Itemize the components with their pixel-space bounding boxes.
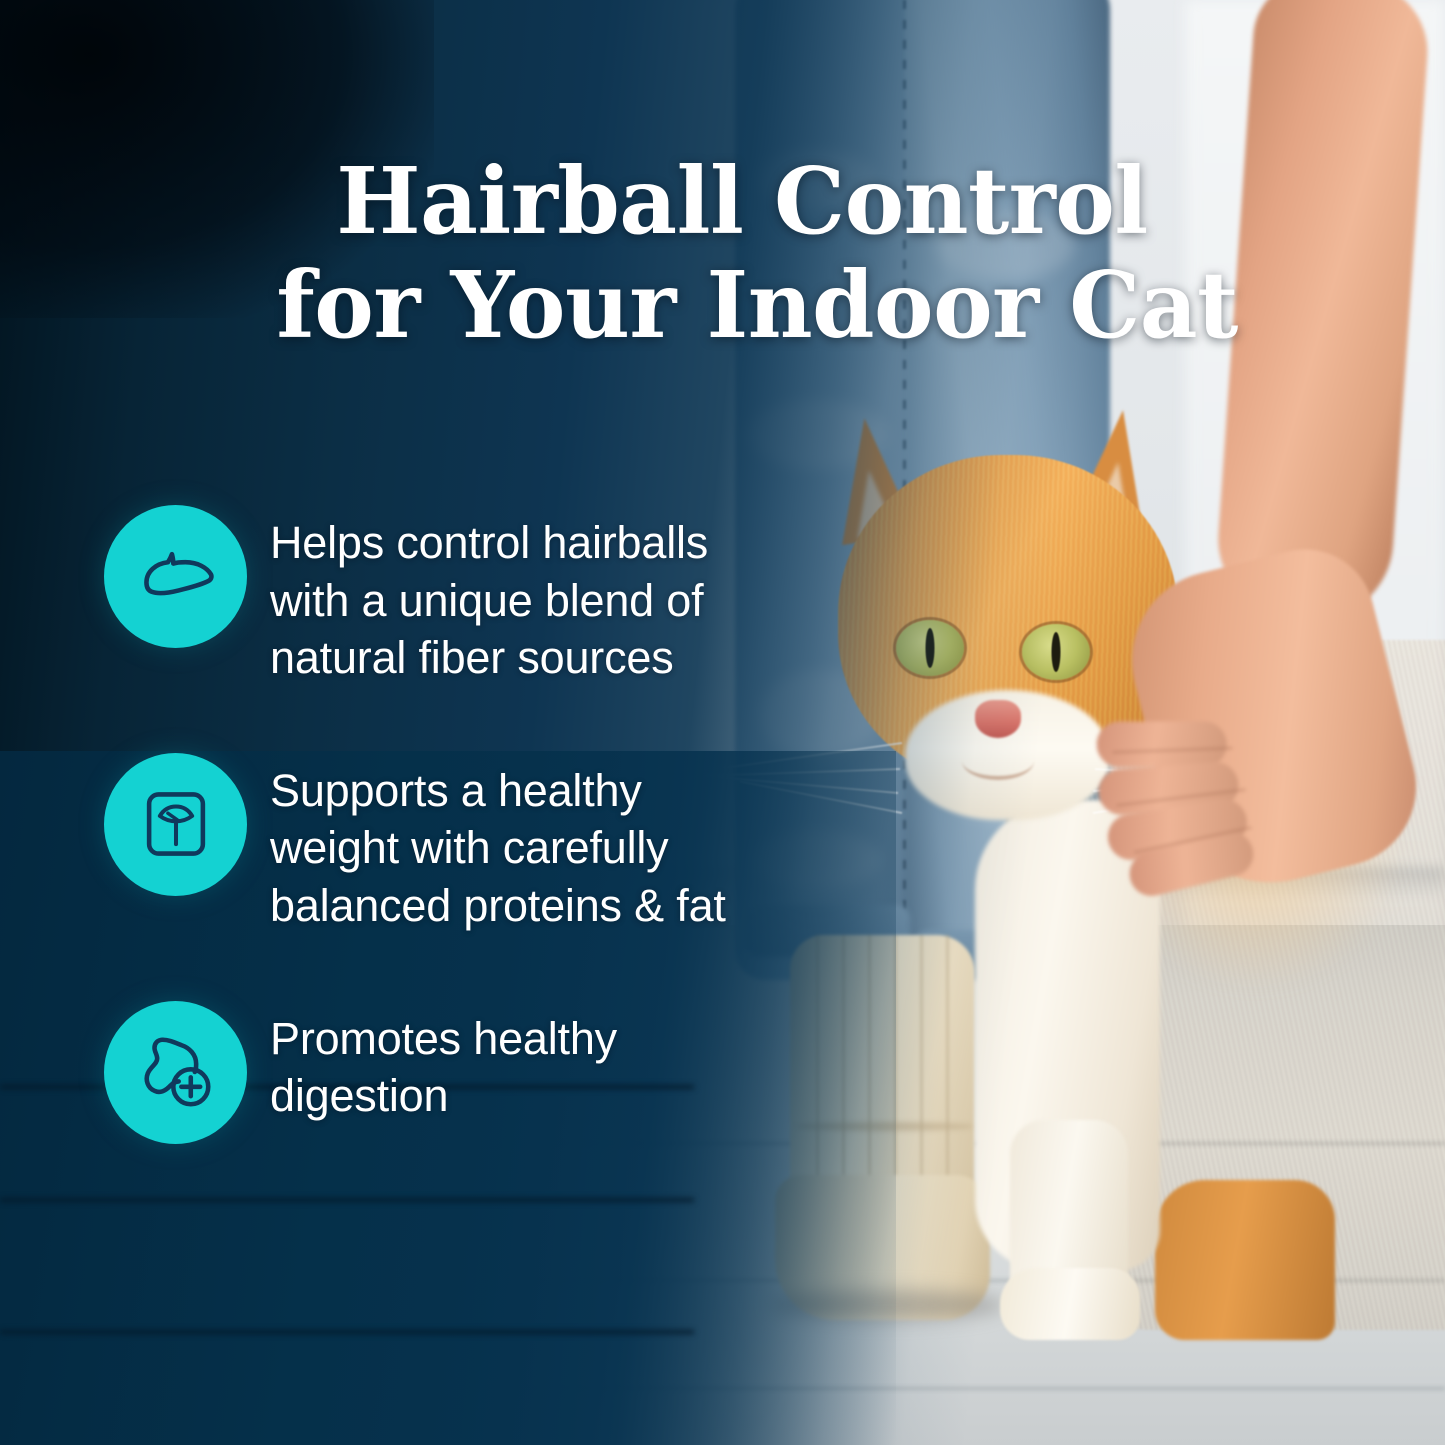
benefit-item-digestion: Promotes healthy digestion [104, 1001, 744, 1144]
benefit-line: digestion [270, 1067, 617, 1125]
benefit-text-weight: Supports a healthy weight with carefully… [270, 753, 726, 935]
benefit-line: Helps control hairballs [270, 514, 708, 572]
benefit-text-digestion: Promotes healthy digestion [270, 1001, 617, 1125]
benefit-line: weight with carefully [270, 819, 726, 877]
page-title: Hairball Control for Your Indoor Cat [262, 150, 1222, 358]
headline-line-2: for Your Indoor Cat [276, 254, 1207, 358]
headline-line-1: Hairball Control [276, 150, 1207, 254]
benefit-list: Helps control hairballs with a unique bl… [104, 505, 744, 1144]
benefit-line: Promotes healthy [270, 1010, 617, 1068]
benefit-item-weight: Supports a healthy weight with carefully… [104, 753, 744, 935]
benefit-item-hairball: Helps control hairballs with a unique bl… [104, 505, 744, 687]
benefit-line: Supports a healthy [270, 762, 726, 820]
benefit-line: natural fiber sources [270, 629, 708, 687]
benefit-text-hairball: Helps control hairballs with a unique bl… [270, 505, 708, 687]
content-layer: Hairball Control for Your Indoor Cat Hel… [0, 0, 1445, 1445]
stomach-plus-icon [104, 1001, 247, 1144]
promo-card: Hairball Control for Your Indoor Cat Hel… [0, 0, 1445, 1445]
benefit-line: with a unique blend of [270, 572, 708, 630]
weight-scale-icon [104, 753, 247, 896]
hairball-icon [104, 505, 247, 648]
benefit-line: balanced proteins & fat [270, 877, 726, 935]
